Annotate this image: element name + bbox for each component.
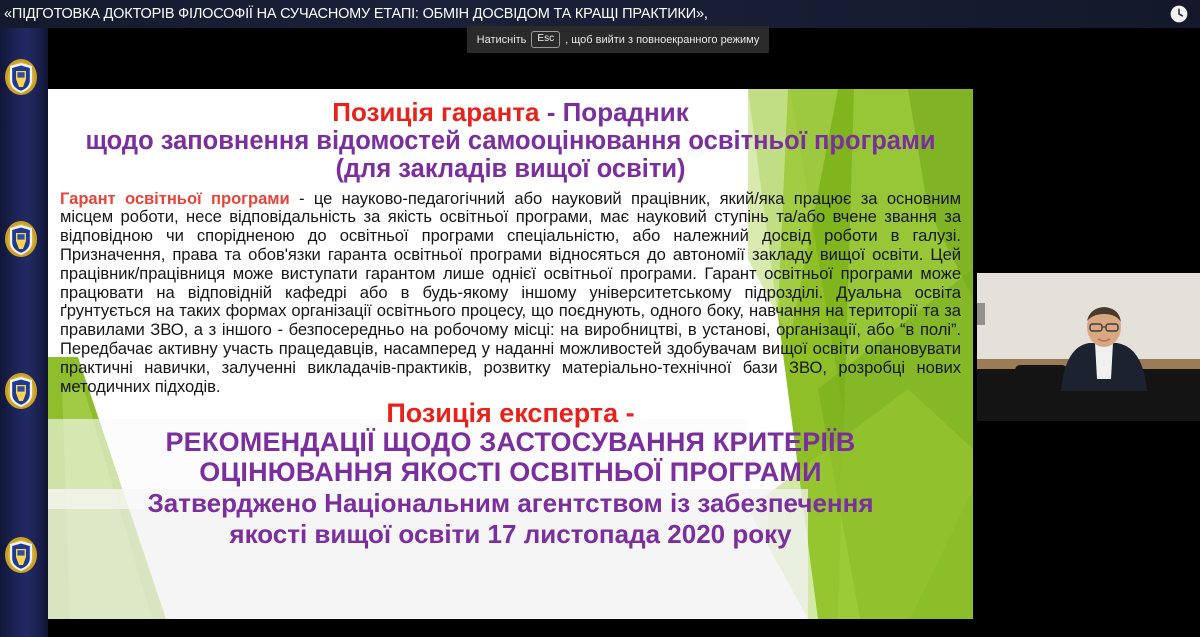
esc-key-badge: Esc bbox=[531, 31, 560, 48]
participant-video-tile[interactable] bbox=[977, 28, 1200, 637]
expert-position-title: Позиція експерта - bbox=[60, 399, 961, 428]
slide-body-paragraph: Гарант освітньої програми - це науково-п… bbox=[60, 190, 961, 397]
body-lead-term: Гарант освітньої програми bbox=[60, 189, 290, 208]
university-crest-4-icon bbox=[4, 536, 38, 574]
university-crest-2-icon bbox=[4, 220, 38, 258]
conference-title: «ПІДГОТОВКА ДОКТОРІВ ФІЛОСОФІЇ НА СУЧАСН… bbox=[4, 2, 1144, 26]
recommendation-line-2: ОЦІНЮВАННЯ ЯКОСТІ ОСВІТНЬОЇ ПРОГРАМИ bbox=[60, 458, 961, 488]
shared-presentation-slide[interactable]: Позиція гаранта - Порадник щодо заповнен… bbox=[48, 89, 973, 619]
meeting-fullscreen-window: «ПІДГОТОВКА ДОКТОРІВ ФІЛОСОФІЇ НА СУЧАСН… bbox=[0, 0, 1200, 637]
approval-line-2: якості вищої освіти 17 листопада 2020 ро… bbox=[60, 520, 961, 549]
slide-heading-line-1: Позиція гаранта - Порадник bbox=[60, 99, 961, 127]
expert-position-block: Позиція експерта - РЕКОМЕНДАЦІЇ ЩОДО ЗАС… bbox=[60, 399, 961, 549]
university-crest-1-icon bbox=[4, 58, 38, 96]
exit-fullscreen-toast: Натисніть Esc , щоб вийти з повноекранно… bbox=[467, 26, 769, 53]
recommendation-line-1: РЕКОМЕНДАЦІЇ ЩОДО ЗАСТОСУВАННЯ КРИТЕРІЇВ bbox=[60, 428, 961, 458]
heading-advisor: - Порадник bbox=[540, 97, 689, 127]
university-crest-3-icon bbox=[4, 372, 38, 410]
toast-prefix-label: Натисніть bbox=[477, 34, 527, 46]
clock-icon[interactable] bbox=[1169, 4, 1189, 24]
presentation-left-band bbox=[0, 28, 48, 637]
approval-line-1: Затверджено Національним агентством із з… bbox=[60, 489, 961, 518]
slide-heading-line-3: (для закладів вищої освіти) bbox=[60, 156, 961, 183]
slide-text-content: Позиція гаранта - Порадник щодо заповнен… bbox=[48, 89, 973, 619]
heading-position-guarantor: Позиція гаранта bbox=[332, 97, 539, 127]
participant-webcam-feed bbox=[977, 273, 1200, 421]
slide-heading-line-2: щодо заповнення відомостей самооцінюванн… bbox=[60, 128, 961, 155]
toast-suffix-label: , щоб вийти з повноекранного режиму bbox=[565, 34, 759, 46]
title-bar: «ПІДГОТОВКА ДОКТОРІВ ФІЛОСОФІЇ НА СУЧАСН… bbox=[0, 0, 1200, 28]
body-main-text: - це науково-педагогічний або науковий п… bbox=[60, 189, 961, 396]
